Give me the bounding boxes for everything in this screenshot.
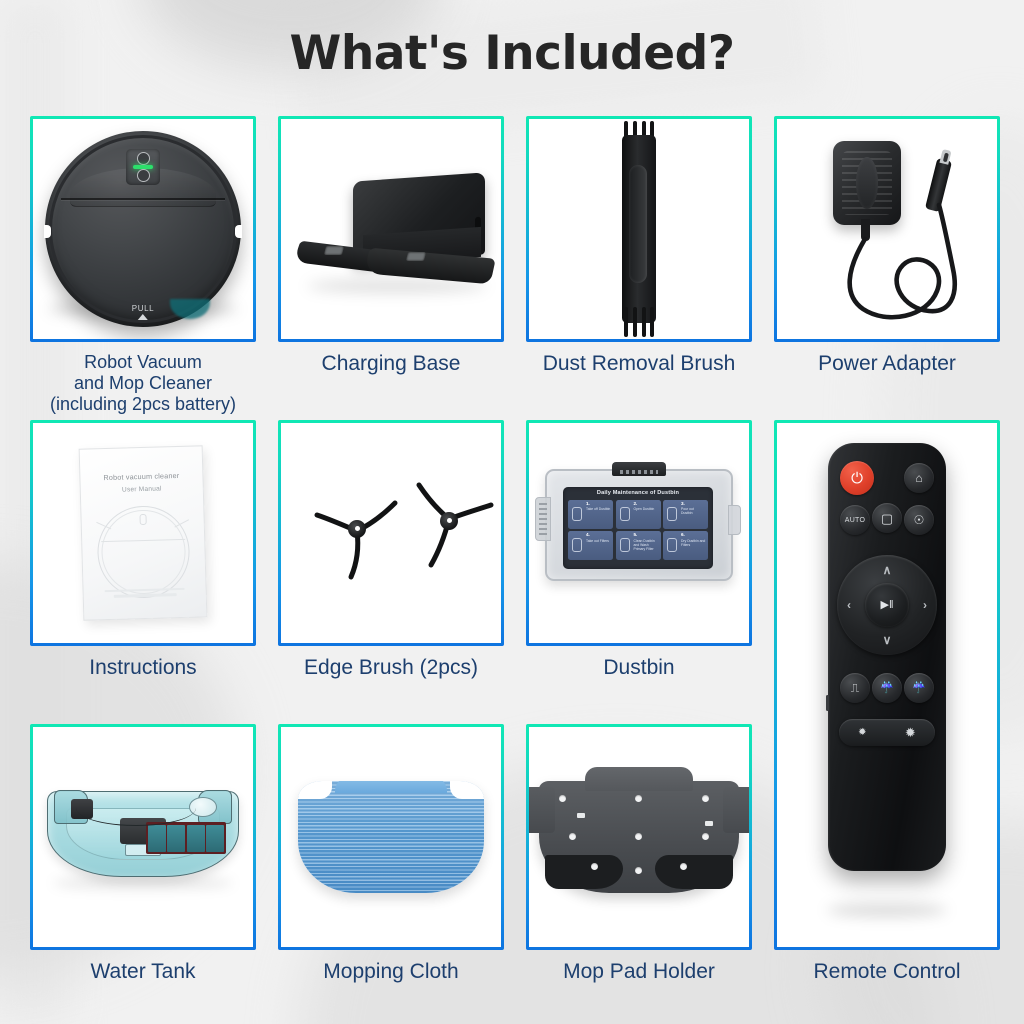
edge-brush-illustration [281, 423, 501, 643]
item-caption-mopping-cloth: Mopping Cloth [278, 960, 504, 985]
item-card-edge-brush[interactable]: Edge Brush (2pcs) [278, 420, 504, 681]
water-tank-sticker [146, 822, 226, 854]
item-caption-robot-vacuum: Robot Vacuum and Mop Cleaner (including … [30, 352, 256, 415]
power-button[interactable]: ⏻ [840, 461, 874, 495]
item-photo-power-adapter [774, 116, 1000, 342]
mop-low-button[interactable]: ☔ [872, 673, 902, 703]
fan-low-button[interactable]: ✹ [858, 728, 866, 738]
direction-pad[interactable]: ∧ ‹ › ∨ ▶‖ [837, 555, 937, 655]
zigzag-mode-button[interactable]: ⎍ [840, 673, 870, 703]
item-photo-instructions: Robot vacuum cleaner User Manual [30, 420, 256, 646]
item-caption-power-adapter: Power Adapter [774, 352, 1000, 377]
robot-vacuum-illustration: PULL [33, 119, 253, 339]
item-caption-charging-base: Charging Base [278, 352, 504, 377]
dpad-up-button[interactable]: ∧ [883, 564, 892, 576]
dust-removal-brush-illustration [529, 119, 749, 339]
dustbin-step: 5. Clean Dustbin and Wash Primary Filter [616, 531, 661, 560]
dustbin-step: 4. Take out Filters [568, 531, 613, 560]
item-photo-mopping-cloth [278, 724, 504, 950]
item-card-instructions[interactable]: Robot vacuum cleaner User Manual Instruc… [30, 420, 256, 681]
home-button[interactable]: ⌂ [904, 463, 934, 493]
item-card-charging-base[interactable]: Charging Base [278, 116, 504, 377]
item-photo-robot-vacuum: PULL [30, 116, 256, 342]
item-card-robot-vacuum[interactable]: PULL Robot Vacuum and Mop Cleaner (inclu… [30, 116, 256, 415]
fan-speed-bar[interactable]: ✹ ✹ [839, 719, 935, 746]
dustbin-label-heading: Daily Maintenance of Dustbin [568, 491, 708, 497]
dustbin-step: 1. Take off Dustbin [568, 500, 613, 529]
dustbin-maintenance-label: Daily Maintenance of Dustbin 1. Take off… [563, 487, 713, 569]
item-photo-edge-brush [278, 420, 504, 646]
item-caption-dustbin: Dustbin [526, 656, 752, 681]
item-caption-mop-pad-holder: Mop Pad Holder [526, 960, 752, 985]
fan-high-button[interactable]: ✹ [905, 726, 916, 739]
dustbin-step: 2. Open Dustbin [616, 500, 661, 529]
item-card-mopping-cloth[interactable]: Mopping Cloth [278, 724, 504, 985]
play-pause-button[interactable]: ▶‖ [865, 583, 909, 627]
item-card-mop-pad-holder[interactable]: Mop Pad Holder [526, 724, 752, 985]
included-items-grid: PULL Robot Vacuum and Mop Cleaner (inclu… [0, 0, 1024, 1024]
mop-pad-holder-illustration [529, 727, 749, 947]
spot-mode-button[interactable]: ☉ [904, 505, 934, 535]
item-caption-instructions: Instructions [30, 656, 256, 681]
item-card-power-adapter[interactable]: Power Adapter [774, 116, 1000, 377]
manual-title-line1: Robot vacuum cleaner [80, 470, 202, 482]
manual-title-line2: User Manual [81, 484, 203, 494]
item-photo-water-tank [30, 724, 256, 950]
mopping-cloth-illustration [281, 727, 501, 947]
item-photo-charging-base [278, 116, 504, 342]
dpad-down-button[interactable]: ∨ [883, 634, 892, 646]
power-cord [777, 119, 997, 339]
item-photo-dust-removal-brush [526, 116, 752, 342]
item-card-dustbin[interactable]: Daily Maintenance of Dustbin 1. Take off… [526, 420, 752, 681]
item-card-remote-control[interactable]: ⏻ ⌂ AUTO ▢ ☉ [774, 420, 1000, 985]
remote-control-illustration: ⏻ ⌂ AUTO ▢ ☉ [777, 423, 997, 947]
edge-mode-button[interactable]: ▢ [872, 503, 902, 533]
dpad-right-button[interactable]: › [923, 599, 927, 611]
item-photo-remote-control: ⏻ ⌂ AUTO ▢ ☉ [774, 420, 1000, 950]
dustbin-step: 6. Dry Dustbin and Filters [663, 531, 708, 560]
item-caption-dust-removal-brush: Dust Removal Brush [526, 352, 752, 377]
robot-control-panel [126, 149, 160, 185]
dpad-left-button[interactable]: ‹ [847, 599, 851, 611]
dustbin-step: 3. Pour out Dustbin [663, 500, 708, 529]
item-photo-mop-pad-holder [526, 724, 752, 950]
item-caption-edge-brush: Edge Brush (2pcs) [278, 656, 504, 681]
auto-button[interactable]: AUTO [840, 505, 870, 535]
item-caption-water-tank: Water Tank [30, 960, 256, 985]
item-card-water-tank[interactable]: Water Tank [30, 724, 256, 985]
instruction-manual-illustration: Robot vacuum cleaner User Manual [33, 423, 253, 643]
item-photo-dustbin: Daily Maintenance of Dustbin 1. Take off… [526, 420, 752, 646]
charging-base-illustration [281, 119, 501, 339]
power-adapter-illustration [777, 119, 997, 339]
item-caption-remote-control: Remote Control [774, 960, 1000, 985]
robot-pull-label: PULL [132, 304, 154, 320]
dustbin-illustration: Daily Maintenance of Dustbin 1. Take off… [529, 423, 749, 643]
item-card-dust-removal-brush[interactable]: Dust Removal Brush [526, 116, 752, 377]
dustbin-latch [612, 462, 666, 476]
mop-high-button[interactable]: ☔ [904, 673, 934, 703]
water-tank-illustration [33, 727, 253, 947]
